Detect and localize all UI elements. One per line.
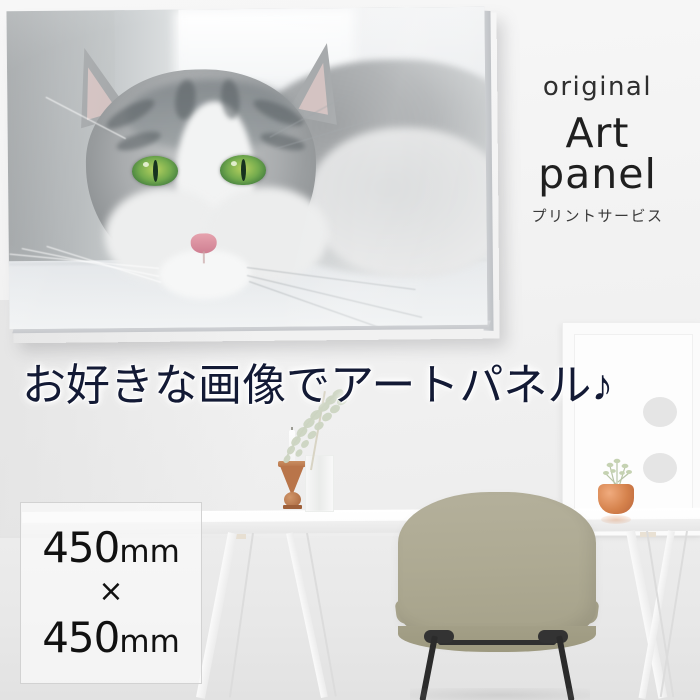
planter-reflection [601, 515, 631, 524]
brand-block: original Art panel プリントサービス [505, 74, 690, 224]
size-height: 450mm [42, 617, 180, 659]
art-panel-promo-image: original Art panel プリントサービス お好きな画像でアートパネ… [0, 0, 700, 700]
chair-seat-back [398, 492, 596, 642]
panel-face [6, 7, 487, 330]
chair-crossbar [438, 640, 556, 645]
art-panel-cat [6, 7, 489, 334]
frame-circle-shape [643, 397, 677, 427]
panel-gloss-reflection [6, 7, 487, 330]
candle-holder-base [283, 505, 302, 509]
copper-planter [598, 484, 634, 514]
size-width: 450mm [42, 527, 180, 569]
chair-leg-mount [424, 630, 454, 643]
chair-leg-mount [538, 630, 568, 643]
size-separator: × [98, 577, 123, 607]
chair-shadow [410, 688, 590, 700]
headline-text: お好きな画像でアートパネル♪ [22, 349, 613, 413]
brand-subtitle: プリントサービス [505, 209, 690, 224]
size-box: 450mm × 450mm [20, 502, 202, 684]
brand-title: Art panel [505, 113, 690, 195]
size-height-value: 450mm [42, 613, 180, 662]
size-width-value: 450mm [42, 523, 180, 572]
frame-circle-shape [643, 453, 677, 483]
brand-original-label: original [505, 74, 690, 100]
